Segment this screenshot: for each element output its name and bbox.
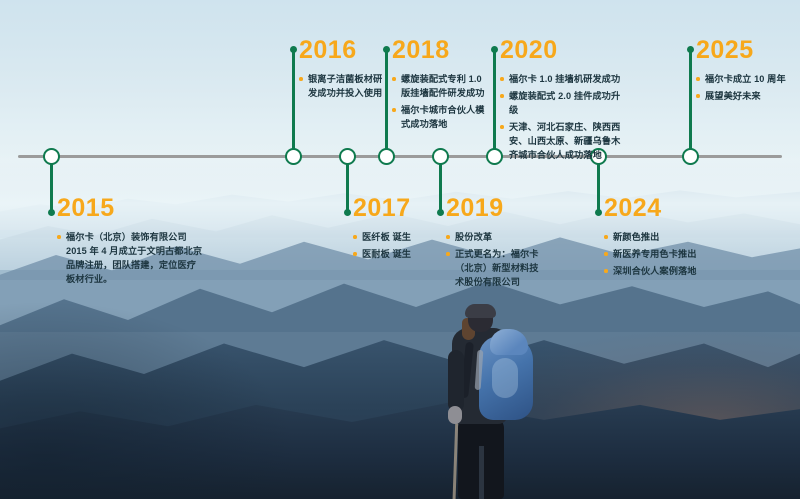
- bullet-item: 天津、河北石家庄、陕西西安、山西太原、新疆乌鲁木齐城市合伙人成功落地: [500, 120, 624, 162]
- bullet-item: 福尔卡成立 10 周年: [696, 72, 796, 86]
- year-label-2024: 2024: [604, 196, 714, 221]
- bullet-list-2017: 医纤板 诞生 医耐板 诞生: [353, 230, 433, 261]
- timeline-stem-dot-2024: [595, 209, 602, 216]
- bullet-item: 螺旋装配式 2.0 挂件成功升级: [500, 89, 624, 117]
- bullet-list-2015: 福尔卡（北京）装饰有限公司 2015 年 4 月成立于文明古都北京品牌注册，团队…: [57, 230, 205, 286]
- timeline-entry-2024[interactable]: 2024 新颜色推出 新医养专用色卡推出 深圳合伙人案例落地: [604, 196, 714, 281]
- bullet-item: 展望美好未来: [696, 89, 796, 103]
- timeline-stem-2020: [493, 48, 496, 149]
- year-label-2020: 2020: [500, 38, 624, 63]
- timeline-entry-2018[interactable]: 2018 螺旋装配式专利 1.0 版挂墙配件研发成功 福尔卡城市合伙人模式成功落…: [392, 38, 490, 134]
- bullet-list-2016: 银离子洁菌板材研发成功并投入使用: [299, 72, 389, 100]
- timeline-stem-2016: [292, 48, 295, 149]
- hiker-leg-gap: [479, 446, 484, 499]
- timeline-node-2015[interactable]: [43, 148, 60, 165]
- timeline-stem-dot-2020: [491, 46, 498, 53]
- year-label-2017: 2017: [353, 196, 433, 221]
- timeline-stem-dot-2015: [48, 209, 55, 216]
- timeline-stem-dot-2025: [687, 46, 694, 53]
- valley-shadow: [0, 300, 300, 499]
- timeline-stem-2019: [439, 164, 442, 212]
- timeline-entry-2025[interactable]: 2025 福尔卡成立 10 周年 展望美好未来: [696, 38, 796, 106]
- backpack-highlight: [492, 358, 518, 398]
- hiker-hand: [448, 406, 462, 424]
- timeline-node-2016[interactable]: [285, 148, 302, 165]
- timeline-node-2017[interactable]: [339, 148, 356, 165]
- bullet-item: 股份改革: [446, 230, 542, 244]
- bullet-item: 福尔卡 1.0 挂墙机研发成功: [500, 72, 624, 86]
- timeline-stem-2017: [346, 164, 349, 212]
- timeline-stem-2025: [689, 48, 692, 149]
- timeline-stem-dot-2017: [344, 209, 351, 216]
- bullet-item: 医纤板 诞生: [353, 230, 433, 244]
- year-label-2015: 2015: [57, 196, 205, 221]
- timeline-node-2019[interactable]: [432, 148, 449, 165]
- bullet-list-2020: 福尔卡 1.0 挂墙机研发成功 螺旋装配式 2.0 挂件成功升级 天津、河北石家…: [500, 72, 624, 162]
- year-label-2019: 2019: [446, 196, 542, 221]
- timeline-stem-2015: [50, 164, 53, 212]
- bullet-item: 医耐板 诞生: [353, 247, 433, 261]
- bullet-item: 新颜色推出: [604, 230, 714, 244]
- bullet-list-2024: 新颜色推出 新医养专用色卡推出 深圳合伙人案例落地: [604, 230, 714, 278]
- timeline-entry-2019[interactable]: 2019 股份改革 正式更名为：福尔卡（北京）新型材料技术股份有限公司: [446, 196, 542, 292]
- timeline-entry-2020[interactable]: 2020 福尔卡 1.0 挂墙机研发成功 螺旋装配式 2.0 挂件成功升级 天津…: [500, 38, 624, 165]
- timeline-axis: [18, 155, 782, 158]
- bullet-item: 福尔卡（北京）装饰有限公司 2015 年 4 月成立于文明古都北京品牌注册，团队…: [57, 230, 205, 286]
- timeline-node-2018[interactable]: [378, 148, 395, 165]
- timeline-stem-2024: [597, 164, 600, 212]
- backpack-top-lid: [490, 329, 528, 355]
- hiker-figure: [432, 306, 552, 499]
- timeline-entry-2016[interactable]: 2016 银离子洁菌板材研发成功并投入使用: [299, 38, 389, 103]
- bullet-item: 螺旋装配式专利 1.0 版挂墙配件研发成功: [392, 72, 490, 100]
- timeline-entry-2017[interactable]: 2017 医纤板 诞生 医耐板 诞生: [353, 196, 433, 264]
- year-label-2025: 2025: [696, 38, 796, 63]
- bullet-item: 新医养专用色卡推出: [604, 247, 714, 261]
- year-label-2016: 2016: [299, 38, 389, 63]
- timeline-node-2025[interactable]: [682, 148, 699, 165]
- bullet-item: 深圳合伙人案例落地: [604, 264, 714, 278]
- hiker-arm: [448, 350, 464, 412]
- bullet-item: 福尔卡城市合伙人模式成功落地: [392, 103, 490, 131]
- bullet-list-2019: 股份改革 正式更名为：福尔卡（北京）新型材料技术股份有限公司: [446, 230, 542, 289]
- year-label-2018: 2018: [392, 38, 490, 63]
- timeline-entry-2015[interactable]: 2015 福尔卡（北京）装饰有限公司 2015 年 4 月成立于文明古都北京品牌…: [57, 196, 205, 289]
- timeline-stem-dot-2019: [437, 209, 444, 216]
- bullet-item: 银离子洁菌板材研发成功并投入使用: [299, 72, 389, 100]
- bullet-list-2025: 福尔卡成立 10 周年 展望美好未来: [696, 72, 796, 103]
- bullet-list-2018: 螺旋装配式专利 1.0 版挂墙配件研发成功 福尔卡城市合伙人模式成功落地: [392, 72, 490, 131]
- timeline-stem-dot-2016: [290, 46, 297, 53]
- bullet-item: 正式更名为：福尔卡（北京）新型材料技术股份有限公司: [446, 247, 542, 289]
- hiker-cap: [465, 304, 496, 318]
- timeline-infographic: 2016 银离子洁菌板材研发成功并投入使用 2018 螺旋装配式专利 1.0 版…: [0, 0, 800, 499]
